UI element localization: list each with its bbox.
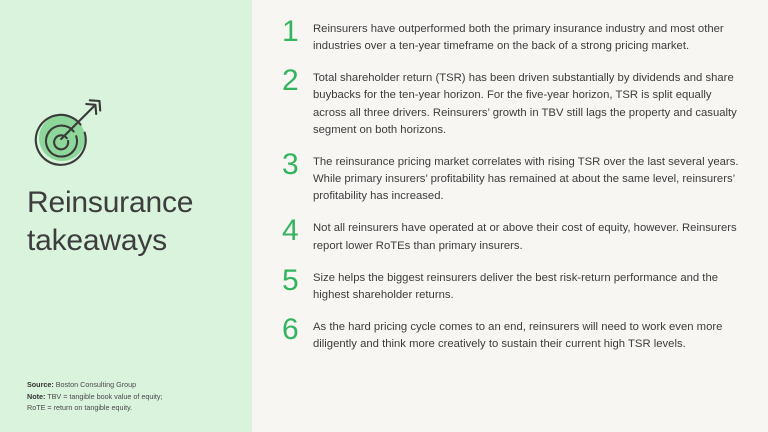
takeaway-text: The reinsurance pricing market correlate…	[313, 150, 742, 205]
footnote-note: Note: TBV = tangible book value of equit…	[27, 391, 227, 403]
list-item: 6 As the hard pricing cycle comes to an …	[282, 315, 742, 353]
list-item: 2 Total shareholder return (TSR) has bee…	[282, 66, 742, 139]
takeaway-text: Reinsurers have outperformed both the pr…	[313, 17, 742, 55]
list-item: 5 Size helps the biggest reinsurers deli…	[282, 266, 742, 304]
footnote-note-label: Note:	[27, 392, 45, 401]
list-item: 1 Reinsurers have outperformed both the …	[282, 17, 742, 55]
footnote-source: Source: Boston Consulting Group	[27, 379, 227, 391]
takeaway-number: 6	[282, 315, 313, 344]
slide-root: Reinsurance takeaways Source: Boston Con…	[0, 0, 768, 432]
footnote-source-value: Boston Consulting Group	[56, 380, 136, 389]
footnote-note-2: RoTE = return on tangible equity.	[27, 402, 227, 414]
list-item: 4 Not all reinsurers have operated at or…	[282, 216, 742, 254]
takeaway-number: 4	[282, 216, 313, 245]
page-title: Reinsurance takeaways	[27, 184, 237, 260]
list-item: 3 The reinsurance pricing market correla…	[282, 150, 742, 205]
footnotes-block: Source: Boston Consulting Group Note: TB…	[27, 379, 227, 414]
takeaway-number: 3	[282, 150, 313, 179]
target-arrow-icon	[28, 92, 106, 170]
takeaway-number: 2	[282, 66, 313, 95]
footnote-source-label: Source:	[27, 380, 54, 389]
takeaway-list: 1 Reinsurers have outperformed both the …	[282, 17, 742, 353]
footnote-note-value: TBV = tangible book value of equity;	[47, 392, 162, 401]
left-title-panel: Reinsurance takeaways Source: Boston Con…	[0, 0, 252, 432]
right-content-panel: 1 Reinsurers have outperformed both the …	[252, 0, 768, 432]
takeaway-text: Not all reinsurers have operated at or a…	[313, 216, 742, 254]
takeaway-number: 1	[282, 17, 313, 46]
takeaway-number: 5	[282, 266, 313, 295]
takeaway-text: As the hard pricing cycle comes to an en…	[313, 315, 742, 353]
takeaway-text: Size helps the biggest reinsurers delive…	[313, 266, 742, 304]
takeaway-text: Total shareholder return (TSR) has been …	[313, 66, 742, 139]
